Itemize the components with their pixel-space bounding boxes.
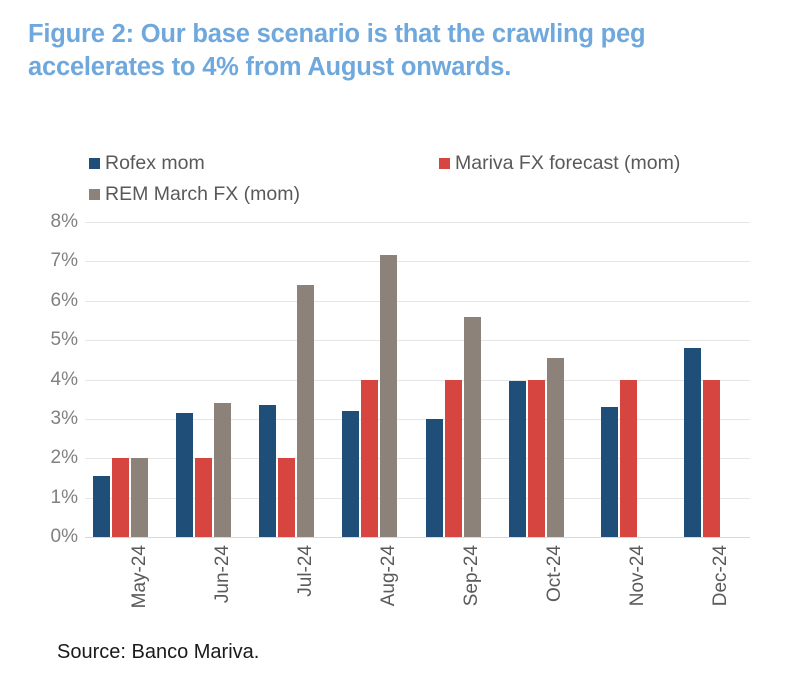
bar-group-aug-24: [342, 222, 397, 537]
legend-swatch-rem: [89, 189, 100, 200]
bar-rofex-oct-24: [509, 381, 526, 537]
x-axis-tick-label: Sep-24: [461, 545, 483, 635]
bar-mariva-jul-24: [278, 458, 295, 537]
x-axis-tick-label: Jun-24: [212, 545, 234, 635]
bar-mariva-sep-24: [445, 380, 462, 538]
bar-group-sep-24: [426, 222, 481, 537]
legend-swatch-rofex: [89, 158, 100, 169]
y-axis-tick-label: 4%: [51, 369, 78, 391]
x-axis: May-24Jun-24Jul-24Aug-24Sep-24Oct-24Nov-…: [85, 537, 750, 632]
y-axis-tick-label: 6%: [51, 290, 78, 312]
bar-mariva-may-24: [112, 458, 129, 537]
bar-rofex-aug-24: [342, 411, 359, 537]
bar-rem-sep-24: [464, 317, 481, 538]
y-axis: 0%1%2%3%4%5%6%7%8%: [28, 222, 78, 537]
legend-item-rem: REM March FX (mom): [89, 185, 300, 205]
legend-swatch-mariva: [439, 158, 450, 169]
y-axis-tick-label: 8%: [51, 211, 78, 233]
bar-rem-jul-24: [297, 285, 314, 537]
x-axis-tick-label: May-24: [129, 545, 151, 635]
bar-rofex-sep-24: [426, 419, 443, 537]
legend-label-rofex: Rofex mom: [105, 154, 205, 174]
bar-rem-may-24: [131, 458, 148, 537]
bar-group-nov-24: [601, 222, 637, 537]
x-axis-tick-label: Oct-24: [544, 545, 566, 635]
source-note: Source: Banco Mariva.: [57, 641, 259, 664]
bar-mariva-jun-24: [195, 458, 212, 537]
bar-mariva-dec-24: [703, 380, 720, 538]
legend-label-mariva: Mariva FX forecast (mom): [455, 154, 680, 174]
y-axis-tick-label: 2%: [51, 447, 78, 469]
x-axis-tick-label: Dec-24: [710, 545, 732, 635]
bar-rofex-nov-24: [601, 407, 618, 537]
bar-mariva-aug-24: [361, 380, 378, 538]
bar-rem-oct-24: [547, 358, 564, 537]
bar-rofex-may-24: [93, 476, 110, 537]
y-axis-tick-label: 1%: [51, 487, 78, 509]
bar-group-oct-24: [509, 222, 564, 537]
bar-rofex-dec-24: [684, 348, 701, 537]
x-axis-tick-label: Nov-24: [627, 545, 649, 635]
bar-rofex-jun-24: [176, 413, 193, 537]
chart-legend: Rofex mom Mariva FX forecast (mom) REM M…: [84, 152, 744, 212]
bar-group-jun-24: [176, 222, 231, 537]
y-axis-tick-label: 0%: [51, 526, 78, 548]
bar-mariva-nov-24: [620, 380, 637, 538]
legend-item-mariva: Mariva FX forecast (mom): [439, 154, 680, 174]
legend-label-rem: REM March FX (mom): [105, 185, 300, 205]
y-axis-tick-label: 3%: [51, 408, 78, 430]
x-axis-tick-label: Aug-24: [378, 545, 400, 635]
bar-rem-aug-24: [380, 255, 397, 537]
bar-rem-jun-24: [214, 403, 231, 537]
x-axis-tick-label: Jul-24: [295, 545, 317, 635]
bar-group-may-24: [93, 222, 148, 537]
y-axis-tick-label: 5%: [51, 329, 78, 351]
y-axis-tick-label: 7%: [51, 250, 78, 272]
chart-plot-area: [85, 222, 750, 537]
bar-mariva-oct-24: [528, 380, 545, 538]
legend-item-rofex: Rofex mom: [89, 154, 205, 174]
bar-group-dec-24: [684, 222, 720, 537]
page-title: Figure 2: Our base scenario is that the …: [28, 18, 776, 83]
bar-group-jul-24: [259, 222, 314, 537]
bar-rofex-jul-24: [259, 405, 276, 537]
